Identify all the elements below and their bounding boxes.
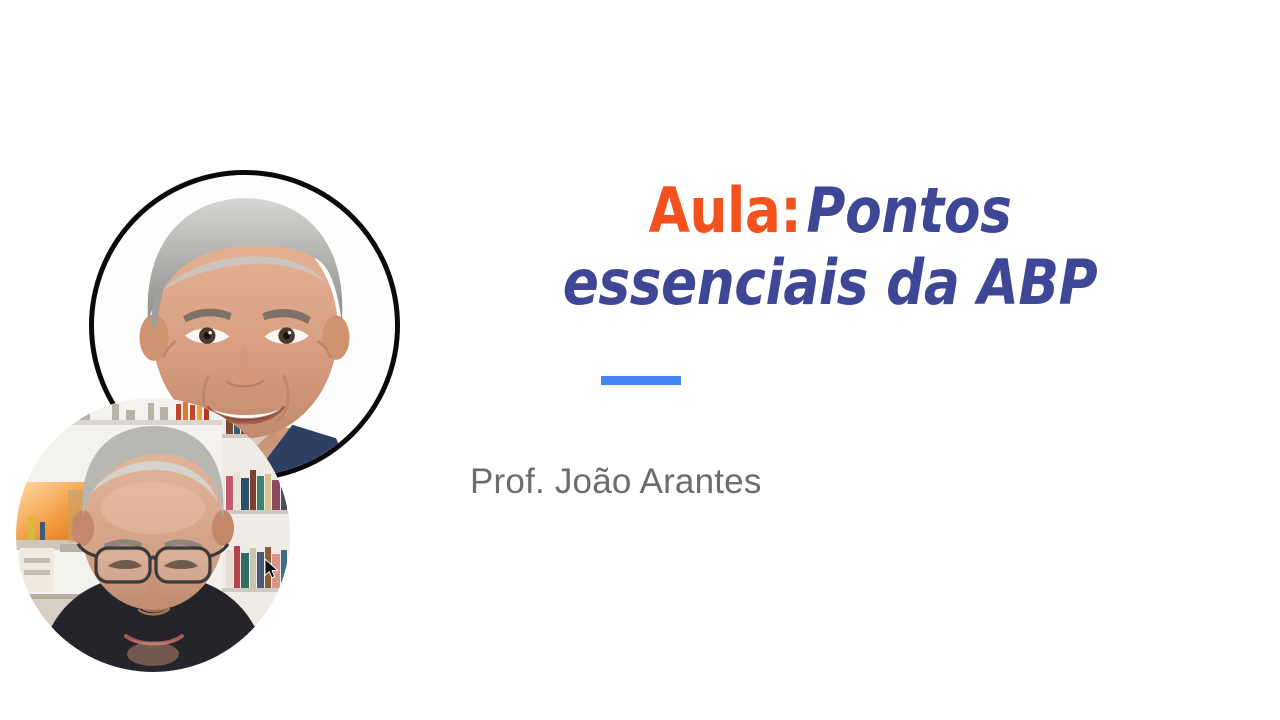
cursor-arrow-icon xyxy=(264,558,280,580)
portrait-webcam-illustration xyxy=(16,398,290,672)
portrait-webcam-circle[interactable] xyxy=(16,398,290,672)
title-main: Pontos essenciais da ABP xyxy=(563,174,1098,319)
page-title: Aula:Pontos essenciais da ABP xyxy=(520,175,1139,319)
presenter-name: Prof. João Arantes xyxy=(470,461,1190,503)
title-block: Aula:Pontos essenciais da ABP xyxy=(470,175,1190,319)
slide-canvas: Aula:Pontos essenciais da ABP Prof. João… xyxy=(0,0,1280,720)
mouse-cursor xyxy=(264,558,280,580)
title-accent: Aula: xyxy=(649,174,802,247)
title-divider xyxy=(601,376,681,385)
